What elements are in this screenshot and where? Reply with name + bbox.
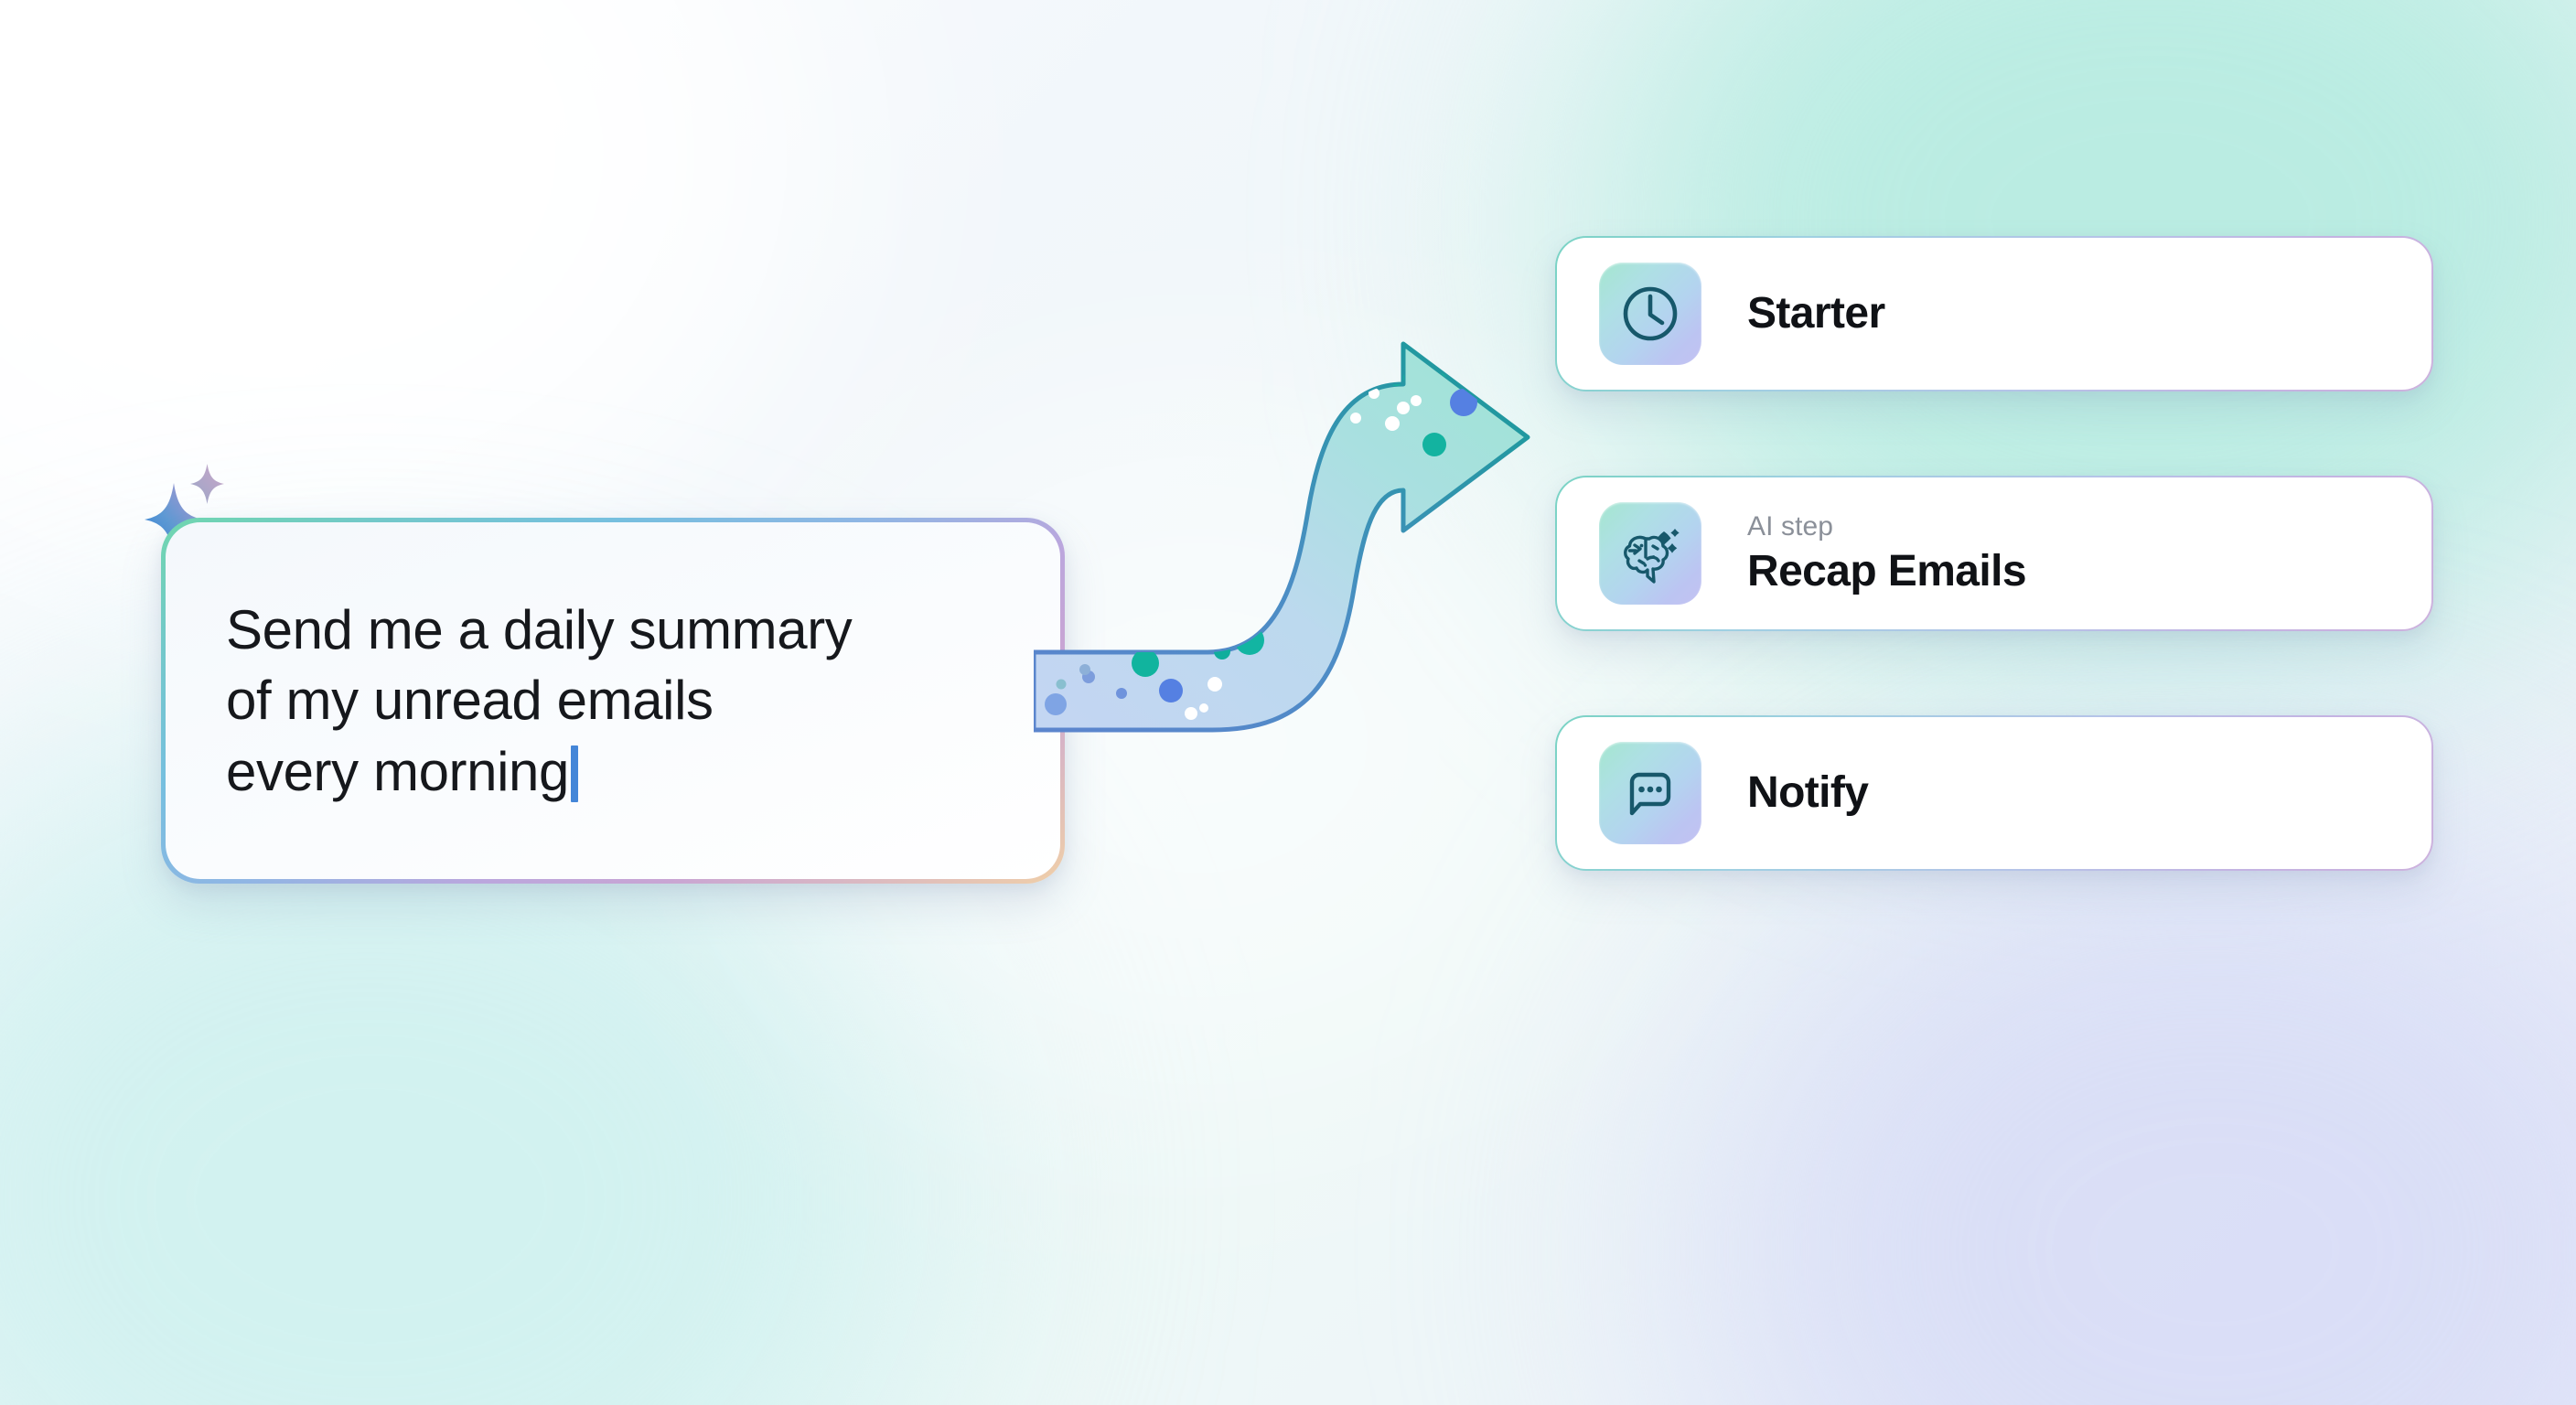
clock-icon-tile	[1599, 263, 1701, 365]
workflow-card-texts: Starter	[1747, 289, 1885, 338]
workflow-card-title: Recap Emails	[1747, 547, 2026, 596]
chat-bubble-icon-tile	[1599, 742, 1701, 844]
workflow-card-starter[interactable]: Starter	[1555, 236, 2433, 391]
workflow-card-body: Notify	[1557, 717, 2431, 869]
prompt-input-border: Send me a daily summary of my unread ema…	[161, 518, 1065, 884]
workflow-card-body: Starter	[1557, 238, 2431, 390]
brain-sparkle-icon	[1616, 520, 1684, 587]
typing-dots	[1638, 787, 1662, 793]
prompt-input-field[interactable]: Send me a daily summary of my unread ema…	[166, 522, 1060, 879]
workflow-card-recap-emails[interactable]: AI step Recap Emails	[1555, 476, 2433, 631]
workflow-card-body: AI step Recap Emails	[1557, 477, 2431, 629]
workflow-step-list: Starter	[1555, 236, 2433, 871]
clock-icon	[1618, 282, 1682, 346]
workflow-card-eyebrow: AI step	[1747, 511, 2026, 542]
workflow-card-notify[interactable]: Notify	[1555, 715, 2433, 871]
workflow-card-title: Starter	[1747, 289, 1885, 338]
brain-sparkle-icon-tile	[1599, 502, 1701, 605]
text-caret	[571, 745, 578, 802]
workflow-card-texts: AI step Recap Emails	[1747, 511, 2026, 596]
chat-bubble-dots-icon	[1618, 761, 1682, 825]
prompt-text-row: Send me a daily summary of my unread ema…	[226, 595, 852, 807]
prompt-input-wrapper[interactable]: Send me a daily summary of my unread ema…	[161, 518, 1065, 884]
workflow-card-title: Notify	[1747, 768, 1868, 818]
canvas: Send me a daily summary of my unread ema…	[0, 0, 2576, 1405]
workflow-card-texts: Notify	[1747, 768, 1868, 818]
prompt-input-value: Send me a daily summary of my unread ema…	[226, 599, 852, 802]
